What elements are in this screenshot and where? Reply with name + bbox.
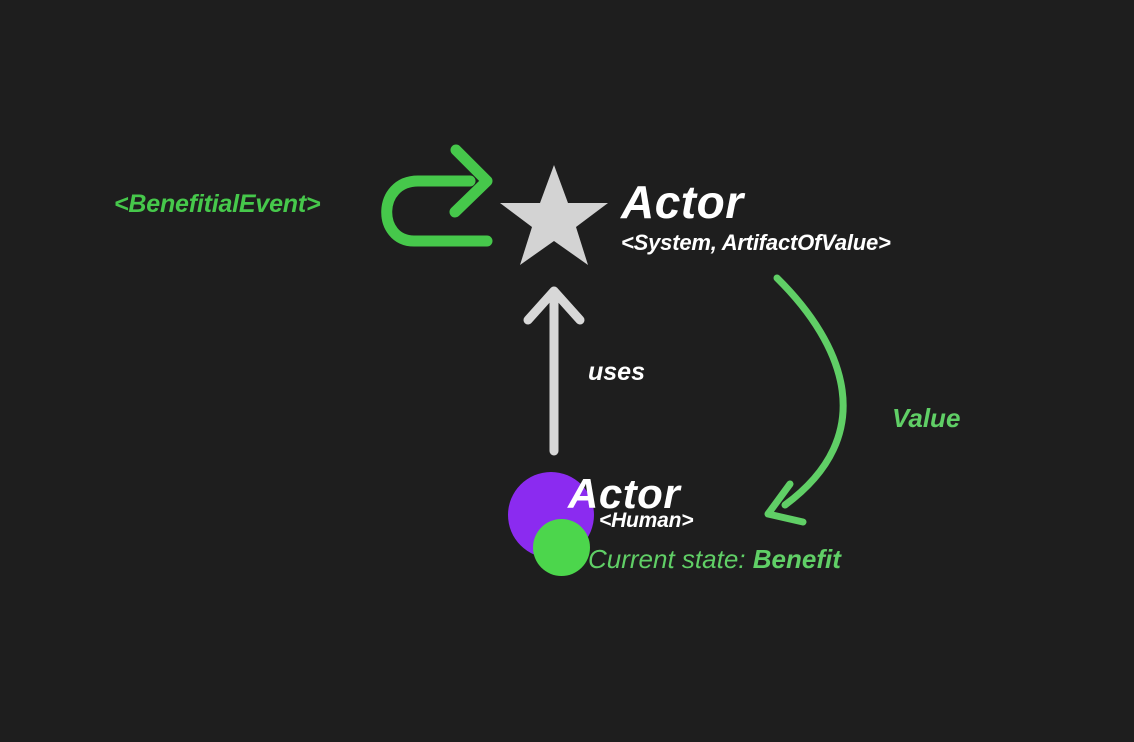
benefitial-event-label: <BenefitialEvent>: [114, 192, 320, 217]
human-actor-state-prefix: Current state:: [588, 544, 746, 574]
value-arrow: [768, 278, 843, 522]
diagram-edges-layer: [0, 0, 1134, 742]
system-actor-stereotype: <System, ArtifactOfValue>: [621, 232, 891, 254]
system-actor-name: Actor: [621, 179, 744, 225]
human-actor-state-circle-icon: [533, 519, 590, 576]
uses-arrow: [528, 291, 580, 451]
uses-label: uses: [588, 360, 645, 385]
human-actor-state-value: Benefit: [753, 544, 841, 574]
human-actor-current-state: Current state: Benefit: [588, 546, 841, 572]
diagram-canvas: Actor <System, ArtifactOfValue> <Benefit…: [0, 0, 1134, 742]
value-label: Value: [892, 405, 960, 431]
benefitial-event-loop-arrow: [387, 150, 487, 241]
star-icon: [500, 163, 608, 266]
human-actor-stereotype: <Human>: [599, 510, 693, 531]
